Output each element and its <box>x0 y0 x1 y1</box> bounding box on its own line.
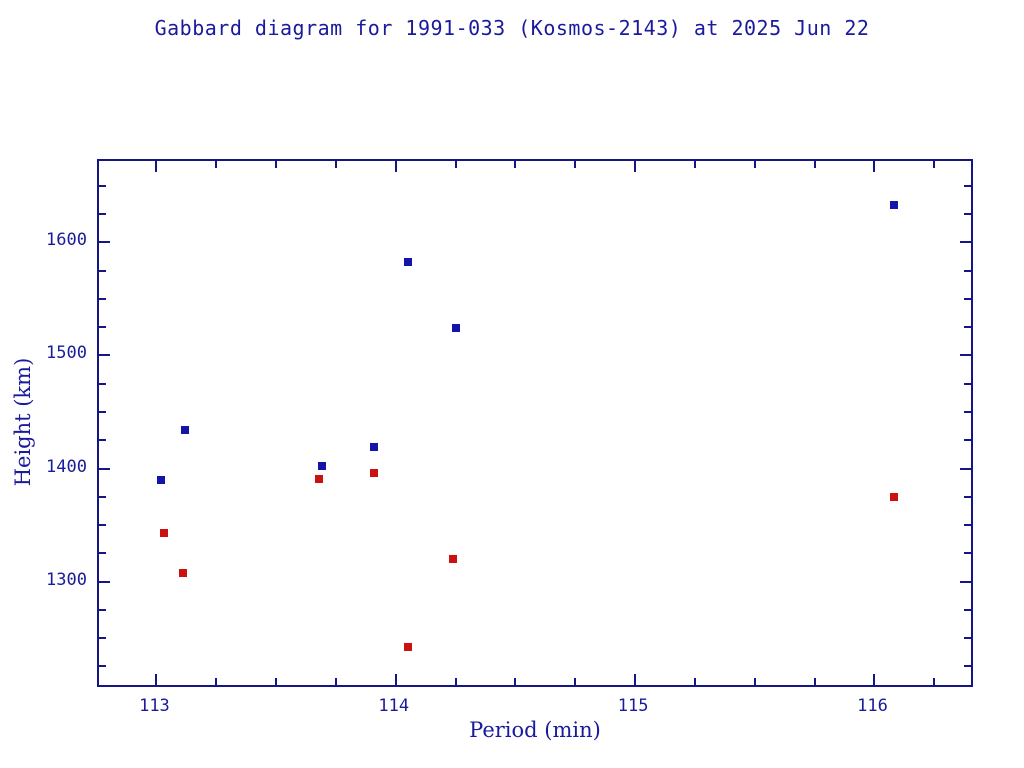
y-tick-minor <box>964 439 971 441</box>
x-tick-major <box>634 161 636 172</box>
x-tick-label: 114 <box>378 696 409 716</box>
data-point-apogee <box>181 426 189 434</box>
data-point-perigee <box>315 475 323 483</box>
y-tick-minor <box>964 326 971 328</box>
x-tick-label: 113 <box>139 696 170 716</box>
x-tick-major <box>873 161 875 172</box>
y-tick-major <box>99 241 110 243</box>
data-point-perigee <box>370 469 378 477</box>
x-tick-major <box>873 674 875 685</box>
x-tick-minor <box>574 161 576 168</box>
x-tick-minor <box>455 161 457 168</box>
data-point-perigee <box>890 493 898 501</box>
x-tick-label: 115 <box>618 696 649 716</box>
y-tick-major <box>99 354 110 356</box>
x-tick-minor <box>514 161 516 168</box>
data-point-apogee <box>404 258 412 266</box>
y-axis-label: Height (km) <box>11 352 35 492</box>
y-tick-minor <box>99 298 106 300</box>
x-tick-minor <box>814 161 816 168</box>
y-tick-minor <box>964 185 971 187</box>
x-tick-major <box>155 674 157 685</box>
y-tick-major <box>960 354 971 356</box>
y-tick-minor <box>99 326 106 328</box>
y-tick-minor <box>99 270 106 272</box>
x-tick-minor <box>275 161 277 168</box>
y-tick-label: 1300 <box>9 570 87 590</box>
x-tick-minor <box>814 678 816 685</box>
y-tick-minor <box>99 383 106 385</box>
x-tick-label: 116 <box>857 696 888 716</box>
x-tick-minor <box>215 678 217 685</box>
y-tick-minor <box>964 213 971 215</box>
x-tick-minor <box>455 678 457 685</box>
x-tick-major <box>395 674 397 685</box>
x-tick-minor <box>754 161 756 168</box>
x-tick-minor <box>694 678 696 685</box>
y-tick-major <box>960 468 971 470</box>
y-tick-minor <box>964 298 971 300</box>
y-tick-major <box>960 241 971 243</box>
y-tick-minor <box>964 524 971 526</box>
x-tick-minor <box>754 678 756 685</box>
y-tick-minor <box>99 552 106 554</box>
data-point-apogee <box>890 201 898 209</box>
y-tick-minor <box>964 496 971 498</box>
y-tick-minor <box>964 637 971 639</box>
x-tick-minor <box>933 678 935 685</box>
y-tick-minor <box>99 439 106 441</box>
x-tick-major <box>634 674 636 685</box>
y-tick-minor <box>964 665 971 667</box>
x-tick-minor <box>574 678 576 685</box>
data-point-apogee <box>318 462 326 470</box>
y-tick-major <box>960 581 971 583</box>
x-tick-major <box>395 161 397 172</box>
gabbard-diagram-figure: Gabbard diagram for 1991-033 (Kosmos-214… <box>0 0 1024 768</box>
x-tick-minor <box>694 161 696 168</box>
y-tick-minor <box>99 185 106 187</box>
plot-frame <box>97 159 973 687</box>
x-tick-minor <box>933 161 935 168</box>
data-point-perigee <box>449 555 457 563</box>
y-tick-label: 1600 <box>9 230 87 250</box>
data-point-perigee <box>179 569 187 577</box>
y-tick-minor <box>964 383 971 385</box>
data-point-apogee <box>452 324 460 332</box>
y-tick-minor <box>99 524 106 526</box>
data-point-apogee <box>370 443 378 451</box>
x-tick-minor <box>215 161 217 168</box>
y-tick-minor <box>964 609 971 611</box>
y-tick-major <box>99 468 110 470</box>
data-point-perigee <box>160 529 168 537</box>
y-tick-minor <box>964 411 971 413</box>
y-tick-minor <box>99 496 106 498</box>
x-tick-minor <box>335 161 337 168</box>
y-tick-minor <box>99 609 106 611</box>
y-tick-minor <box>99 411 106 413</box>
y-tick-major <box>99 581 110 583</box>
x-tick-minor <box>335 678 337 685</box>
y-tick-minor <box>99 665 106 667</box>
x-tick-minor <box>275 678 277 685</box>
chart-title: Gabbard diagram for 1991-033 (Kosmos-214… <box>0 16 1024 40</box>
y-tick-minor <box>99 213 106 215</box>
x-axis-label: Period (min) <box>97 718 973 742</box>
y-tick-minor <box>964 552 971 554</box>
x-tick-major <box>155 161 157 172</box>
data-point-apogee <box>157 476 165 484</box>
x-tick-minor <box>514 678 516 685</box>
data-point-perigee <box>404 643 412 651</box>
y-tick-minor <box>964 270 971 272</box>
y-tick-minor <box>99 637 106 639</box>
plot-area <box>99 161 971 685</box>
